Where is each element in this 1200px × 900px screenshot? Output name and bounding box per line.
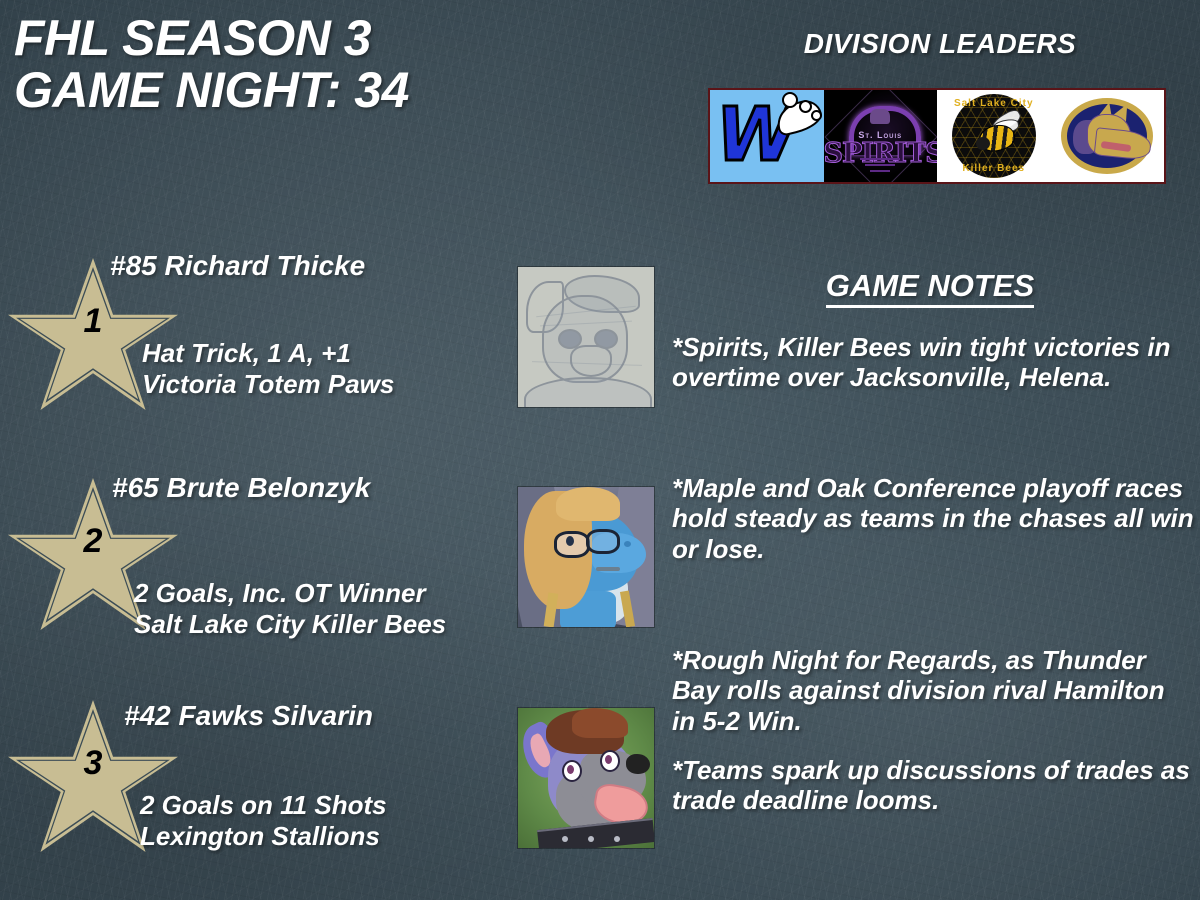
collar-stud — [614, 836, 620, 842]
star-2-team: Salt Lake City Killer Bees — [134, 609, 446, 640]
bees-top-text: Salt Lake City — [952, 98, 1036, 109]
bubble-icon — [799, 100, 812, 113]
game-note-3: *Rough Night for Regards, as Thunder Bay… — [672, 645, 1194, 736]
star-2-stat-line: 2 Goals, Inc. OT Winner — [134, 578, 446, 609]
star-1-portrait — [518, 267, 654, 407]
ray-line-icon — [870, 170, 890, 172]
collar-stud — [562, 836, 568, 842]
dragon-hair-top — [556, 487, 620, 521]
title-line-2: GAME NIGHT: 34 — [14, 64, 634, 116]
ray-line-icon — [865, 164, 895, 166]
star-3-player-name: #42 Fawks Silvarin — [124, 700, 373, 732]
division-leaders-logo-strip: W St. Louis SPIRITS Salt Lake City Kille… — [708, 88, 1166, 184]
st-louis-spirits-logo: St. Louis SPIRITS — [824, 90, 938, 182]
bee-head-icon — [976, 137, 990, 150]
star-1-team: Victoria Totem Paws — [142, 369, 394, 400]
game-note-1: *Spirits, Killer Bees win tight victorie… — [672, 332, 1194, 393]
wolf-team-logo — [1051, 90, 1165, 182]
star-rank-number: 2 — [8, 524, 178, 558]
page-title: FHL SEASON 3 GAME NIGHT: 34 — [14, 12, 634, 116]
sketch-shoulders — [524, 377, 652, 407]
star-1-player-name: #85 Richard Thicke — [110, 250, 365, 282]
game-note-4: *Teams spark up discussions of trades as… — [672, 755, 1194, 816]
dragon-mouth — [596, 567, 620, 571]
game-notes-heading: GAME NOTES — [672, 268, 1188, 304]
sketch-muzzle — [570, 345, 612, 377]
wolf-pupil-right — [605, 755, 612, 764]
dragon-nostril — [624, 541, 631, 547]
division-leaders-heading: DIVISION LEADERS — [700, 28, 1180, 60]
collar-stud — [588, 836, 594, 842]
victoria-totem-paws-logo: W — [710, 90, 824, 182]
star-3-team: Lexington Stallions — [140, 821, 387, 852]
star-3-stat-line: 2 Goals on 11 Shots — [140, 790, 387, 821]
star-rank-number: 1 — [8, 304, 178, 338]
game-notes-heading-text: GAME NOTES — [826, 268, 1034, 308]
ghost-icon — [870, 109, 890, 124]
wolf-pupil-left — [567, 765, 574, 774]
star-2-portrait — [518, 487, 654, 627]
slide-root: FHL SEASON 3 GAME NIGHT: 34 DIVISION LEA… — [0, 0, 1200, 900]
dragon-pupil — [566, 536, 574, 546]
bubble-icon — [782, 92, 798, 108]
title-line-1: FHL SEASON 3 — [14, 12, 634, 64]
game-note-2: *Maple and Oak Conference playoff races … — [672, 473, 1194, 564]
dragon-glasses-lens-right — [586, 529, 620, 554]
star-rank-number: 3 — [8, 746, 178, 780]
wolf-nose — [626, 754, 650, 774]
ray-line-icon — [860, 158, 900, 160]
bubble-icon — [811, 110, 822, 121]
star-1-stat-line: Hat Trick, 1 A, +1 — [142, 338, 394, 369]
bees-bottom-text: Killer Bees — [952, 163, 1036, 174]
star-2-player-name: #65 Brute Belonzyk — [112, 472, 370, 504]
salt-lake-city-killer-bees-logo: Salt Lake City Killer Bees — [937, 90, 1051, 182]
star-3-portrait — [518, 708, 654, 848]
honeycomb-disc-icon: Salt Lake City Killer Bees — [952, 94, 1036, 178]
